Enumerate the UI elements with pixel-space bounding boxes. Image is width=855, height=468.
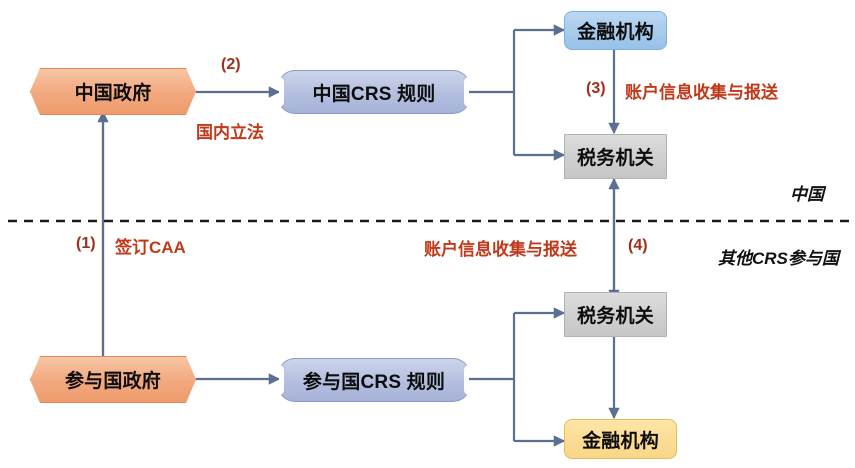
region-label-china: 中国 <box>790 180 824 205</box>
arrow-cn-rules-branch <box>468 30 564 155</box>
node-china-crs-rules[interactable]: 中国CRS 规则 <box>279 70 469 114</box>
step-1-number: (1) <box>76 235 96 253</box>
node-participating-government[interactable]: 参与国政府 <box>30 356 196 403</box>
arrow-pt-rules-branch <box>468 313 564 441</box>
node-china-financial-institution[interactable]: 金融机构 <box>564 11 667 50</box>
step-4-label: 账户信息收集与报送 <box>424 235 577 260</box>
node-participating-crs-rules[interactable]: 参与国CRS 规则 <box>279 358 469 402</box>
step-4-number: (4) <box>628 237 648 255</box>
node-china-government[interactable]: 中国政府 <box>30 68 196 115</box>
region-label-other-crs-countries: 其他CRS参与国 <box>718 244 839 269</box>
node-china-tax-authority[interactable]: 税务机关 <box>564 134 667 179</box>
node-participating-financial-institution[interactable]: 金融机构 <box>564 419 677 459</box>
step-2-label: 国内立法 <box>196 118 264 143</box>
node-participating-tax-authority[interactable]: 税务机关 <box>564 292 667 337</box>
step-3-label: 账户信息收集与报送 <box>625 78 778 103</box>
step-1-label: 签订CAA <box>115 233 186 258</box>
step-3-number: (3) <box>586 80 606 98</box>
diagram-canvas: 中国政府 中国CRS 规则 金融机构 税务机关 参与国政府 参与国CRS 规则 … <box>0 0 855 468</box>
step-2-number: (2) <box>221 56 241 74</box>
